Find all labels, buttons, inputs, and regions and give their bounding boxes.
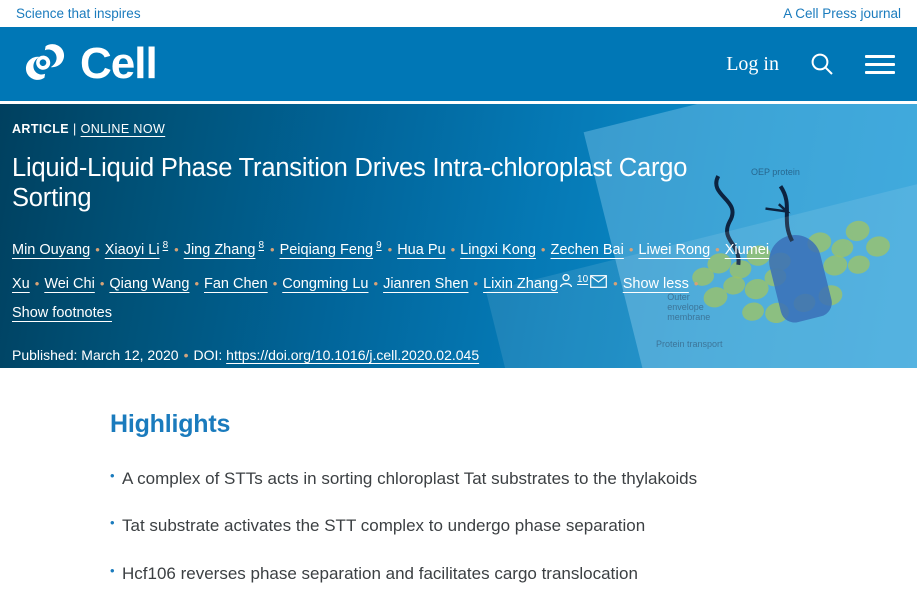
author-list: Min Ouyang•Xiaoyi Li8•Jing Zhang8•Peiqia… — [12, 231, 772, 299]
online-now-link[interactable]: ONLINE NOW — [81, 122, 166, 136]
author-link[interactable]: Lixin Zhang — [483, 276, 558, 292]
masthead-actions: Log in — [726, 51, 895, 77]
author-separator: • — [30, 276, 45, 291]
cell-logo-icon — [22, 43, 68, 86]
author-separator: • — [624, 242, 639, 257]
envelope-icon[interactable] — [590, 269, 607, 299]
author-link[interactable]: Zechen Bai — [550, 242, 623, 258]
author-link[interactable]: Peiqiang Feng — [280, 242, 374, 258]
highlights-list: A complex of STTs acts in sorting chloro… — [110, 469, 917, 584]
article-hero-banner: OEP protein Outer envelope membrane Prot… — [0, 104, 917, 368]
site-masthead: Cell Log in — [0, 27, 917, 104]
kicker-separator: | — [69, 122, 81, 136]
author-affiliation-marker[interactable]: 9 — [373, 240, 383, 251]
pubinfo-separator: • — [179, 347, 194, 363]
science-that-inspires-link[interactable]: Science that inspires — [16, 7, 141, 21]
author-link[interactable]: Congming Lu — [282, 276, 368, 292]
show-less-authors-button[interactable]: Show less — [623, 276, 689, 292]
author-affiliation-marker[interactable]: 8 — [255, 240, 265, 251]
published-date: March 12, 2020 — [81, 347, 178, 363]
login-button[interactable]: Log in — [726, 53, 779, 76]
author-separator: • — [265, 242, 280, 257]
author-link[interactable]: Jianren Shen — [383, 276, 468, 292]
search-icon[interactable] — [809, 51, 835, 77]
highlights-heading: Highlights — [110, 410, 917, 439]
author-separator: • — [95, 276, 110, 291]
author-separator: • — [536, 242, 551, 257]
author-separator: • — [710, 242, 725, 257]
publication-info: Published: March 12, 2020•DOI: https://d… — [12, 347, 901, 363]
list-item: A complex of STTs acts in sorting chloro… — [110, 469, 917, 489]
author-link[interactable]: Lingxi Kong — [460, 242, 536, 258]
brand-wordmark: Cell — [80, 42, 157, 86]
article-title: Liquid-Liquid Phase Transition Drives In… — [12, 153, 772, 213]
brand-home-link[interactable]: Cell — [22, 42, 157, 86]
author-link[interactable]: Qiang Wang — [109, 276, 189, 292]
author-separator: • — [90, 242, 105, 257]
list-item: Hcf106 reverses phase separation and fac… — [110, 564, 917, 584]
author-affiliation-marker[interactable]: 10 — [574, 274, 589, 285]
author-separator: • — [689, 276, 704, 291]
doi-label: DOI: — [193, 347, 222, 363]
banner-content: ARTICLE|ONLINE NOW Liquid-Liquid Phase T… — [0, 104, 917, 363]
author-separator: • — [169, 242, 184, 257]
author-separator: • — [369, 276, 384, 291]
author-separator: • — [446, 242, 461, 257]
author-link[interactable]: Min Ouyang — [12, 242, 90, 258]
author-link[interactable]: Xiaoyi Li — [105, 242, 160, 258]
doi-link[interactable]: https://doi.org/10.1016/j.cell.2020.02.0… — [226, 347, 479, 363]
author-separator: • — [469, 276, 484, 291]
list-item: Tat substrate activates the STT complex … — [110, 516, 917, 536]
article-kicker: ARTICLE|ONLINE NOW — [12, 122, 901, 136]
author-link[interactable]: Wei Chi — [44, 276, 95, 292]
author-link[interactable]: Hua Pu — [397, 242, 445, 258]
author-separator: • — [383, 242, 398, 257]
hamburger-menu-icon[interactable] — [865, 55, 895, 74]
top-utility-bar: Science that inspires A Cell Press journ… — [0, 0, 917, 27]
footnotes-row: Show footnotes — [12, 305, 901, 321]
author-separator: • — [189, 276, 204, 291]
author-separator: • — [608, 276, 623, 291]
article-type-label: ARTICLE — [12, 122, 69, 136]
show-footnotes-button[interactable]: Show footnotes — [12, 305, 112, 321]
cell-press-journal-link[interactable]: A Cell Press journal — [783, 7, 901, 21]
author-link[interactable]: Liwei Rong — [638, 242, 710, 258]
author-link[interactable]: Jing Zhang — [184, 242, 256, 258]
author-separator: • — [268, 276, 283, 291]
author-profile-icon[interactable] — [559, 269, 573, 299]
author-affiliation-marker[interactable]: 8 — [160, 240, 170, 251]
published-label: Published: — [12, 347, 77, 363]
article-body: Highlights A complex of STTs acts in sor… — [0, 368, 917, 584]
author-link[interactable]: Fan Chen — [204, 276, 268, 292]
